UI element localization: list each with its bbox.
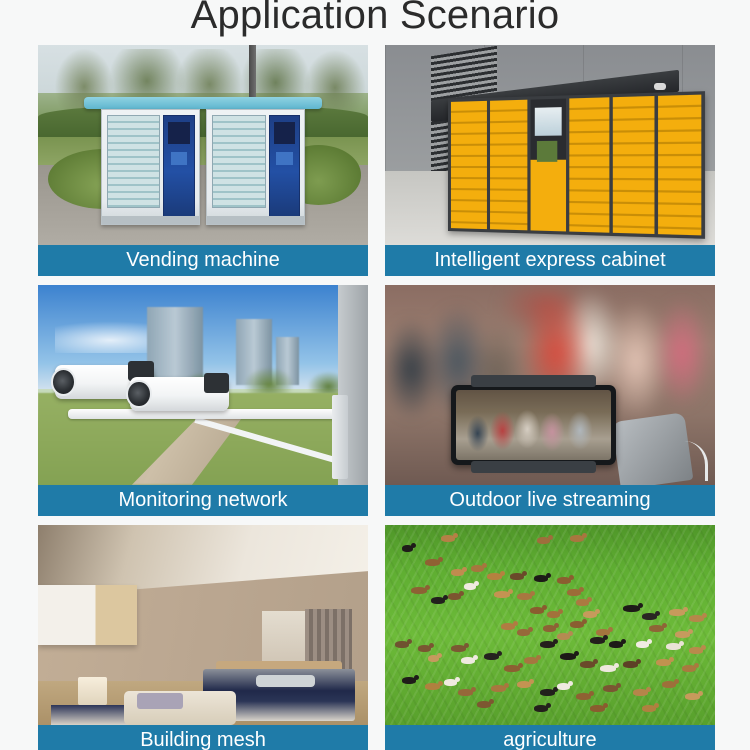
grazing-animal [487,573,502,580]
product-window [212,115,266,209]
grazing-animal [537,537,550,544]
control-panel [163,115,195,218]
grazing-animal [425,683,440,690]
scenario-card-vending-machine[interactable]: Vending machine [38,45,368,276]
application-scenario-page: Application Scenario [0,0,750,750]
grazing-animal [649,625,664,632]
grazing-animal [464,583,476,590]
camera-lens-icon [51,368,77,397]
agriculture-photo [385,525,715,725]
grazing-animal [517,593,532,600]
locker-column [490,100,528,231]
machine-keypad [171,152,188,165]
grazing-animal [590,637,605,644]
grazing-animal [448,593,461,600]
cctv-camera-front [130,377,229,411]
scenario-card-monitoring-network[interactable]: Monitoring network [38,285,368,516]
machine-screen [274,122,295,144]
grazing-animal [510,573,524,580]
grazing-animal [534,705,548,712]
caption-monitoring-network: Monitoring network [38,485,368,516]
grazing-animal [543,625,556,632]
page-title: Application Scenario [0,0,750,41]
smartphone [451,385,616,465]
cushion [137,693,183,709]
grazing-animal [685,693,700,700]
grazing-animal [441,535,455,542]
grazing-animal [491,685,506,692]
grazing-animal [530,607,544,614]
wall-cabinet [38,585,137,645]
scenario-card-building-mesh[interactable]: Building mesh [38,525,368,750]
locker-column [451,101,487,229]
scenario-card-agriculture[interactable]: agriculture [385,525,715,750]
monitoring-network-photo [38,285,368,485]
machine-keypad [276,152,293,165]
caption-vending-machine: Vending machine [38,245,368,276]
grazing-animal [504,665,520,672]
goat-herd [385,525,715,725]
locker-column [613,96,655,234]
caption-agriculture: agriculture [385,725,715,750]
grazing-animal [444,679,457,686]
grazing-animal [451,569,464,576]
grazing-animal [517,681,531,688]
grazing-animal [656,659,671,666]
caption-building-mesh: Building mesh [38,725,368,750]
vending-machine-right [206,109,305,225]
grazing-animal [636,641,649,648]
grazing-animal [418,645,431,652]
grazing-animal [623,605,640,612]
scenario-card-intelligent-express-cabinet[interactable]: Intelligent express cabinet [385,45,715,276]
grazing-animal [675,631,690,638]
grazing-animal [576,599,589,606]
grazing-animal [682,665,696,672]
grazing-animal [411,587,427,594]
grazing-animal [428,655,439,662]
grazing-animal [603,685,618,692]
control-panel [269,115,301,218]
grazing-animal [501,623,515,630]
grazing-animal [540,641,555,648]
grazing-animal [576,693,591,700]
camera-lens-icon [126,380,152,409]
phone-clamp-bottom [471,461,596,473]
express-cabinet-photo [385,45,715,245]
scenario-card-outdoor-live-streaming[interactable]: Outdoor live streaming [385,285,715,516]
grazing-animal [689,647,703,654]
grazing-animal [557,633,570,640]
grazing-animal [557,577,571,584]
locker-column [658,95,702,236]
grazing-animal [477,701,491,708]
grazing-animal [547,611,560,618]
machine-base [207,216,304,224]
phone-screen-preview [456,390,611,460]
grazing-animal [534,575,548,582]
grazing-animal [662,681,676,688]
grazing-animal [567,589,581,596]
phone-clamp-top [471,375,596,387]
grazing-animal [524,657,538,664]
locker-kiosk-screen [531,99,566,232]
grazing-animal [451,645,466,652]
grazing-animal [600,665,616,672]
table-lamp [78,677,108,705]
vending-machine-photo [38,45,368,245]
grazing-animal [557,683,570,690]
canopy-roof [84,97,322,109]
grazing-animal [458,689,473,696]
grazing-animal [669,609,685,616]
grazing-animal [570,621,584,628]
grazing-animal [395,641,409,648]
grazing-animal [590,705,605,712]
wall-mount-plate [332,395,349,479]
grazing-animal [560,653,576,660]
grazing-animal [689,615,704,622]
machine-base [102,216,199,224]
grazing-animal [494,591,510,598]
grazing-animal [484,653,499,660]
grazing-animal [425,559,440,566]
grazing-animal [633,689,648,696]
grazing-animal [431,597,445,604]
pillow [256,675,315,687]
security-camera-icon [654,83,666,90]
caption-outdoor-live-streaming: Outdoor live streaming [385,485,715,516]
grazing-animal [402,545,413,552]
grazing-animal [642,613,657,620]
scenario-grid: Vending machine Intelligent express [38,45,715,750]
grazing-animal [666,643,681,650]
grazing-animal [609,641,623,648]
grazing-animal [461,657,475,664]
grazing-animal [570,535,584,542]
grazing-animal [517,629,530,636]
locker-column [569,97,609,232]
grazing-animal [583,611,597,618]
camera-hood [204,373,230,393]
grazing-animal [540,689,555,696]
vending-machine-left [101,109,200,225]
machine-screen [168,122,189,144]
bedroom-photo [38,525,368,725]
grazing-animal [471,565,484,572]
live-streaming-photo [385,285,715,485]
grazing-animal [402,677,416,684]
grazing-animal [642,705,656,712]
grazing-animal [580,661,595,668]
locker-bank [448,91,705,239]
caption-intelligent-express-cabinet: Intelligent express cabinet [385,245,715,276]
grazing-animal [623,661,638,668]
light-pole [249,45,256,105]
product-window [107,115,161,209]
